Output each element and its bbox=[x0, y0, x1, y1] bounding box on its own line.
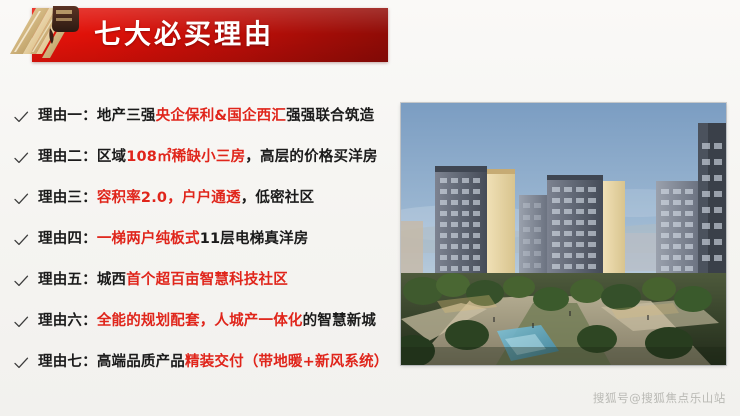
reason-normal-text: ，高层的价格买洋房 bbox=[245, 149, 377, 165]
project-rendering-image bbox=[401, 103, 726, 365]
reason-text: 理由二：区域108㎡稀缺小三房，高层的价格买洋房 bbox=[38, 150, 378, 165]
reasons-list: 理由一：地产三强央企保利&国企西汇强强联合筑造理由二：区域108㎡稀缺小三房，高… bbox=[0, 96, 420, 383]
reason-item: 理由五：城西首个超百亩智慧科技社区 bbox=[0, 260, 420, 301]
reason-label: 理由一： bbox=[38, 108, 97, 124]
reason-text: 理由六：全能的规划配套，人城产一体化的智慧新城 bbox=[38, 314, 376, 329]
slide-root: 七大必买理由 bbox=[0, 0, 740, 416]
reason-text: 理由五：城西首个超百亩智慧科技社区 bbox=[38, 273, 288, 288]
reason-label: 理由七： bbox=[38, 354, 97, 370]
reason-highlight-text: 全能的规划配套，人城产一体化 bbox=[97, 313, 303, 329]
reason-normal-text: 11层电梯真洋房 bbox=[200, 231, 309, 247]
reason-text: 理由七：高端品质产品精装交付（带地暖+新风系统） bbox=[38, 355, 388, 370]
reason-normal-text: 地产三强 bbox=[97, 108, 156, 124]
reason-item: 理由四：一梯两户纯板式11层电梯真洋房 bbox=[0, 219, 420, 260]
reason-label: 理由四： bbox=[38, 231, 97, 247]
reason-item: 理由三：容积率2.0，户户通透，低密社区 bbox=[0, 178, 420, 219]
page-title: 七大必买理由 bbox=[94, 22, 274, 49]
reason-label: 理由六： bbox=[38, 313, 97, 329]
reason-item: 理由七：高端品质产品精装交付（带地暖+新风系统） bbox=[0, 342, 420, 383]
check-icon bbox=[10, 352, 32, 374]
reason-item: 理由六：全能的规划配套，人城产一体化的智慧新城 bbox=[0, 301, 420, 342]
check-icon bbox=[10, 311, 32, 333]
reason-highlight-text: 精装交付（带地暖+新风系统） bbox=[185, 354, 388, 370]
check-icon bbox=[10, 188, 32, 210]
header-banner: 七大必买理由 bbox=[32, 8, 388, 62]
check-icon bbox=[10, 147, 32, 169]
reason-highlight-text: 容积率2.0，户户通透 bbox=[97, 190, 241, 206]
reason-normal-text: 强强联合筑造 bbox=[286, 108, 374, 124]
watermark: 搜狐号@搜狐焦点乐山站 bbox=[593, 390, 726, 406]
gold-scroll-ribbon-icon bbox=[6, 2, 84, 64]
reason-normal-text: 高端品质产品 bbox=[97, 354, 185, 370]
reason-item: 理由一：地产三强央企保利&国企西汇强强联合筑造 bbox=[0, 96, 420, 137]
reason-label: 理由二： bbox=[38, 149, 97, 165]
reason-normal-text: 城西 bbox=[97, 272, 126, 288]
reason-highlight-text: 一梯两户纯板式 bbox=[97, 231, 200, 247]
reason-label: 理由五： bbox=[38, 272, 97, 288]
reason-normal-text: 的智慧新城 bbox=[303, 313, 377, 329]
reason-highlight-text: 央企保利&国企西汇 bbox=[156, 108, 286, 124]
reason-highlight-text: 首个超百亩智慧科技社区 bbox=[126, 272, 288, 288]
check-icon bbox=[10, 270, 32, 292]
reason-normal-text: ，低密社区 bbox=[241, 190, 315, 206]
reason-text: 理由四：一梯两户纯板式11层电梯真洋房 bbox=[38, 232, 309, 247]
check-icon bbox=[10, 229, 32, 251]
reason-label: 理由三： bbox=[38, 190, 97, 206]
reason-highlight-text: 108㎡稀缺小三房 bbox=[126, 149, 245, 165]
reason-text: 理由三：容积率2.0，户户通透，低密社区 bbox=[38, 191, 314, 206]
reason-text: 理由一：地产三强央企保利&国企西汇强强联合筑造 bbox=[38, 109, 374, 124]
reason-normal-text: 区域 bbox=[97, 149, 126, 165]
check-icon bbox=[10, 106, 32, 128]
reason-item: 理由二：区域108㎡稀缺小三房，高层的价格买洋房 bbox=[0, 137, 420, 178]
